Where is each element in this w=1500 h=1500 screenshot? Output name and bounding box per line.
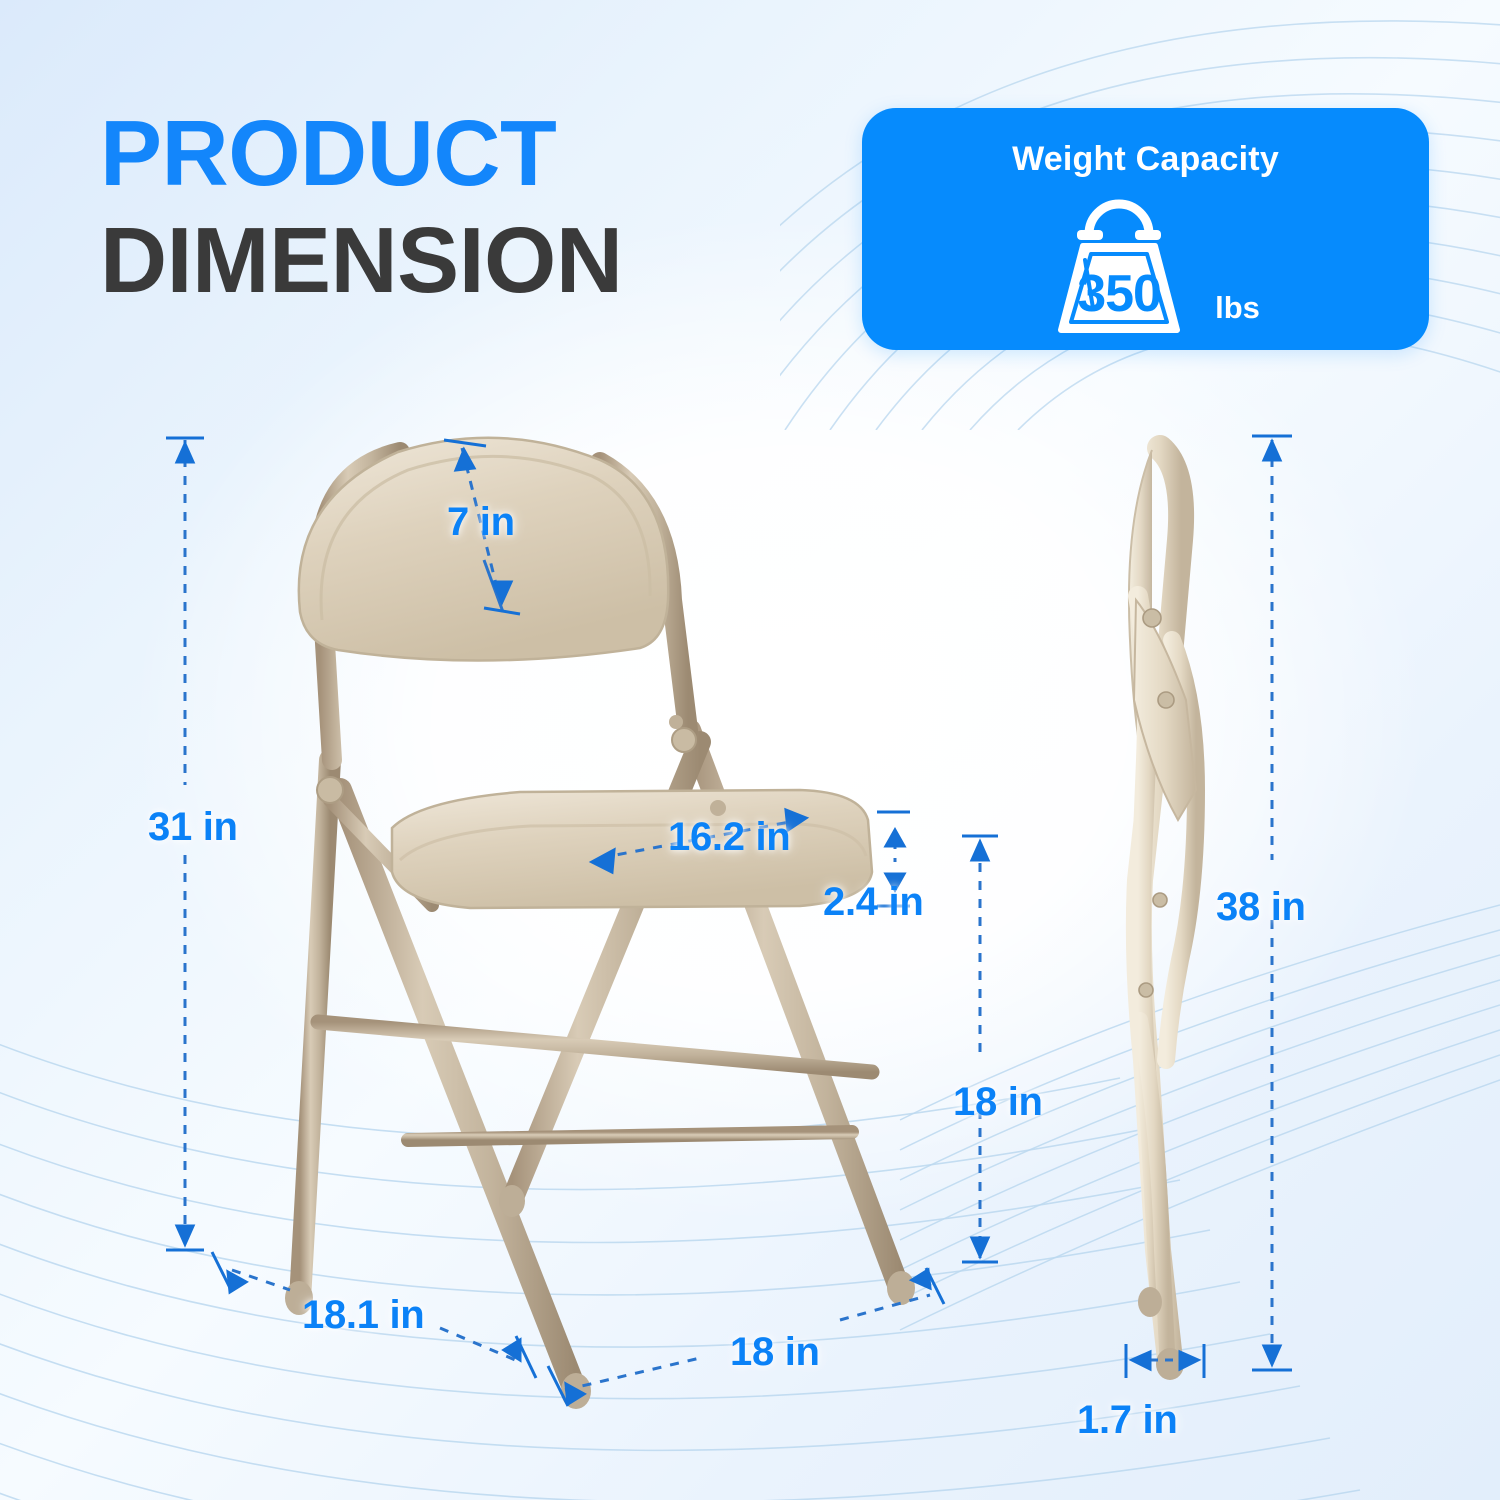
dimension-cushion-thickness: 2.4 in	[823, 880, 923, 925]
dimension-lines	[185, 440, 1272, 1390]
dimension-seat-height: 18 in	[953, 1080, 1043, 1125]
page-title-line-2: DIMENSION	[100, 215, 840, 306]
dimension-arrowheads	[166, 436, 1292, 1406]
dimension-folded-depth: 1.7 in	[1077, 1398, 1177, 1443]
weight-capacity-label: Weight Capacity	[862, 140, 1429, 179]
folded-chair-illustration	[1129, 448, 1196, 1380]
dimension-folded-height: 38 in	[1216, 885, 1306, 930]
dimension-base-depth: 18.1 in	[302, 1293, 424, 1338]
weight-capacity-unit: lbs	[1215, 290, 1260, 326]
product-dimension-infographic: PRODUCT DIMENSION Weight Capacity 350 lb…	[0, 0, 1500, 1500]
open-chair-illustration	[285, 438, 915, 1409]
weight-icon: 350	[1031, 190, 1207, 340]
dimension-base-width: 18 in	[730, 1330, 820, 1375]
dimension-total-height: 31 in	[148, 805, 238, 850]
weight-capacity-value: 350	[1031, 264, 1207, 324]
dimension-seat-depth: 16.2 in	[668, 815, 790, 860]
dimension-backrest-height: 7 in	[447, 500, 515, 545]
page-title: PRODUCT DIMENSION	[100, 108, 840, 306]
weight-icon-row: 350 lbs	[862, 190, 1429, 340]
page-title-line-1: PRODUCT	[100, 108, 840, 199]
weight-capacity-badge: Weight Capacity 350 lbs	[862, 108, 1429, 350]
